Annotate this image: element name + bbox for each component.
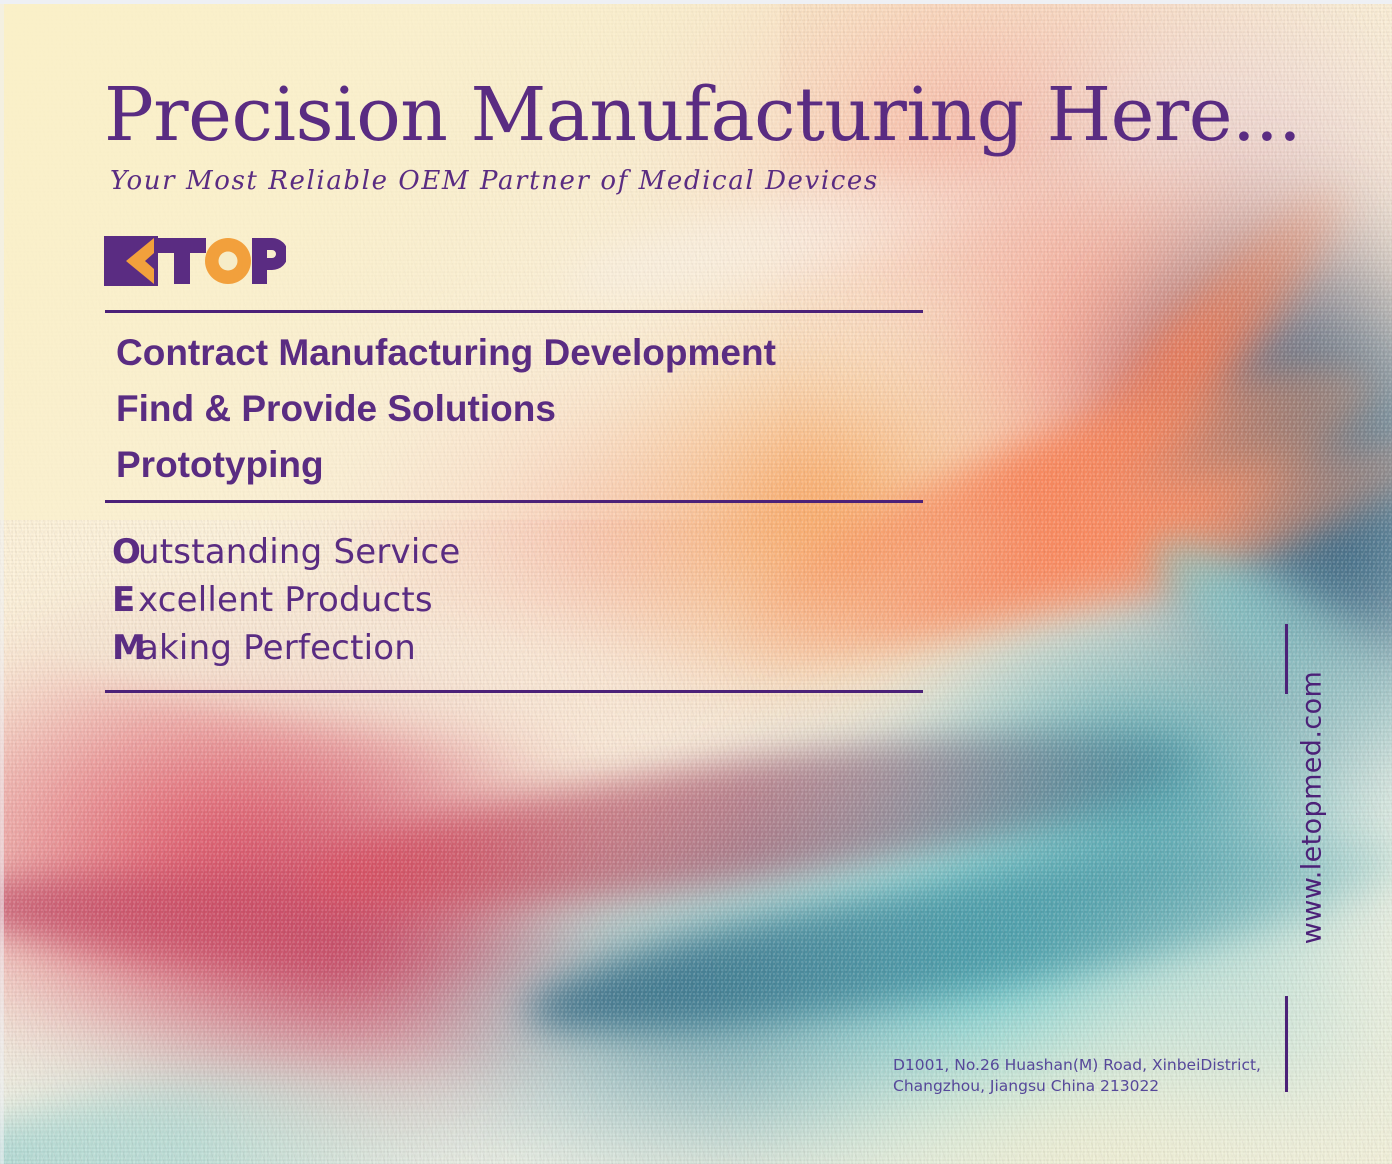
oem-text-outstanding-service: utstanding Service bbox=[138, 528, 461, 576]
oem-row-making-perfection: M aking Perfection bbox=[112, 624, 461, 672]
oem-initial-o: O bbox=[112, 528, 138, 576]
flyer-canvas: Precision Manufacturing Here... Your Mos… bbox=[0, 0, 1392, 1164]
address-line-1: D1001, No.26 Huashan(M) Road, XinbeiDist… bbox=[893, 1055, 1261, 1076]
website-url[interactable]: www.letopmed.com bbox=[1297, 648, 1328, 968]
logo-letter-t bbox=[158, 238, 206, 284]
oem-text-excellent-products: xcellent Products bbox=[138, 576, 433, 624]
flyer-content: Precision Manufacturing Here... Your Mos… bbox=[0, 0, 1392, 1164]
page-subtitle: Your Most Reliable OEM Partner of Medica… bbox=[110, 168, 879, 194]
letop-logo[interactable] bbox=[104, 236, 286, 286]
logo-letter-p bbox=[252, 238, 286, 284]
divider-below-oem bbox=[105, 690, 923, 693]
oem-row-outstanding-service: O utstanding Service bbox=[112, 528, 461, 576]
page-title: Precision Manufacturing Here... bbox=[104, 78, 1301, 152]
company-address: D1001, No.26 Huashan(M) Road, XinbeiDist… bbox=[893, 1055, 1261, 1097]
website-vertical-wrapper[interactable]: www.letopmed.com bbox=[1272, 700, 1306, 1000]
oem-initial-m: M bbox=[112, 624, 138, 672]
service-item-3: Prototyping bbox=[116, 446, 324, 483]
vertical-rule-above-website bbox=[1285, 624, 1288, 694]
vertical-rule-below-website bbox=[1285, 996, 1288, 1092]
service-item-2: Find & Provide Solutions bbox=[116, 390, 556, 427]
oem-acronym-block: O utstanding Service E xcellent Products… bbox=[112, 528, 461, 672]
oem-initial-e: E bbox=[112, 576, 138, 624]
address-line-2: Changzhou, Jiangsu China 213022 bbox=[893, 1076, 1261, 1097]
service-item-1: Contract Manufacturing Development bbox=[116, 334, 776, 371]
divider-above-services bbox=[105, 310, 923, 313]
logo-letter-o-counter bbox=[219, 252, 238, 271]
oem-text-making-perfection: aking Perfection bbox=[138, 624, 416, 672]
divider-above-oem bbox=[105, 500, 923, 503]
oem-row-excellent-products: E xcellent Products bbox=[112, 576, 461, 624]
letop-logo-graphic bbox=[104, 236, 286, 286]
